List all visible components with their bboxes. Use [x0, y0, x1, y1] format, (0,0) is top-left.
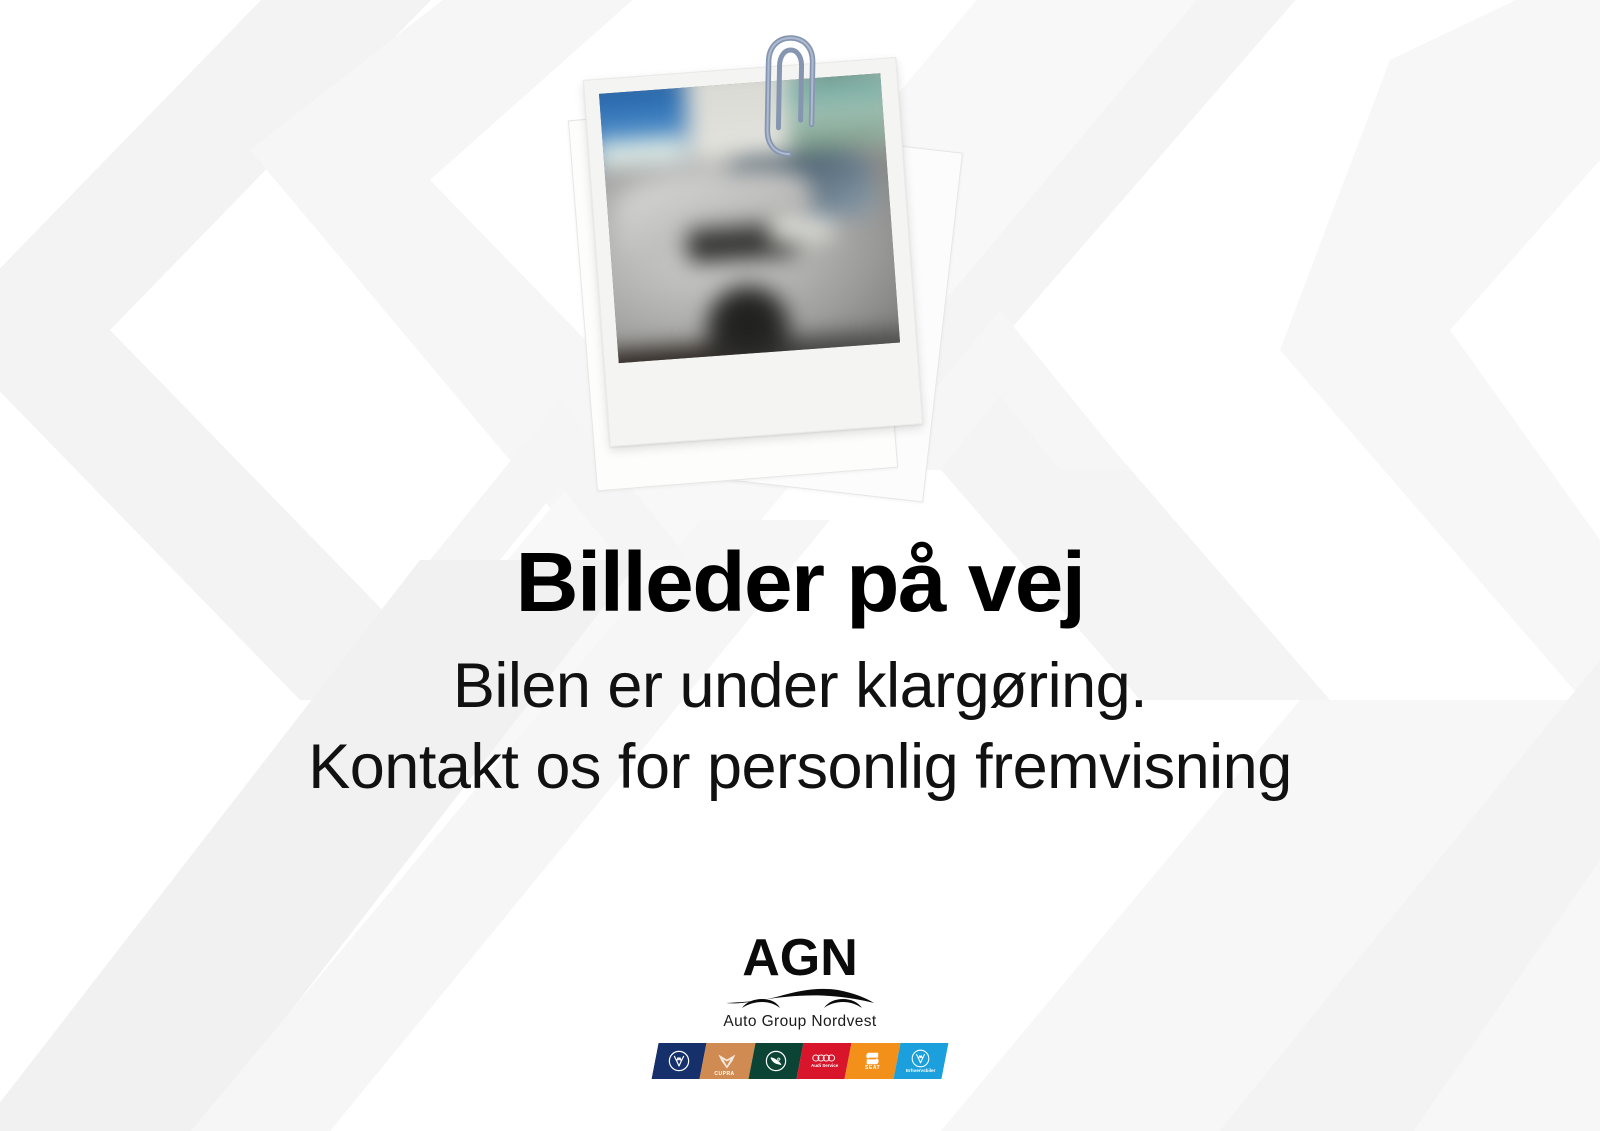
vw-logo-icon	[668, 1050, 690, 1072]
polaroid-caption-area	[620, 352, 906, 434]
brand-label-erhvervsbiler: Erhvervsbiler	[906, 1068, 935, 1073]
brand-label-audi: Audi Service	[811, 1063, 838, 1068]
agn-logo: AGN Auto Group Nordvest	[655, 932, 945, 1079]
car-photo-blurred	[599, 73, 900, 363]
brand-segment-cupra[interactable]: CUPRA	[700, 1043, 755, 1079]
brand-segment-skoda[interactable]	[748, 1043, 803, 1079]
footer: AGN Auto Group Nordvest	[0, 932, 1600, 1079]
subtitle-line-1: Bilen er under klargøring.	[0, 646, 1600, 727]
brand-segment-volkswagen[interactable]	[652, 1043, 707, 1079]
cupra-logo-icon	[717, 1053, 737, 1070]
placeholder-card: Billeder på vej Bilen er under klargørin…	[0, 0, 1600, 1131]
brand-label-seat: SEAT	[865, 1066, 880, 1072]
brand-segment-audi[interactable]: Audi Service	[796, 1043, 851, 1079]
brand-label-cupra: CUPRA	[701, 1072, 749, 1077]
subtitle-line-2: Kontakt os for personlig fremvisning	[0, 727, 1600, 808]
agn-tagline: Auto Group Nordvest	[655, 1013, 945, 1031]
brand-segment-seat[interactable]: SEAT	[845, 1043, 900, 1079]
brand-segment-vw-erhvervsbiler[interactable]: Erhvervsbiler	[893, 1043, 948, 1079]
polaroid-photo-window	[599, 73, 900, 363]
polaroid-frame	[583, 57, 923, 447]
message-block: Billeder på vej Bilen er under klargørin…	[0, 540, 1600, 807]
seat-logo-icon	[865, 1051, 880, 1066]
vw-logo-icon	[911, 1049, 930, 1068]
headline: Billeder på vej	[0, 540, 1600, 624]
paperclip-icon	[761, 32, 819, 163]
audi-rings-icon	[811, 1054, 837, 1062]
skoda-logo-icon	[765, 1050, 787, 1072]
photo-stack	[560, 48, 1020, 528]
agn-wordmark: AGN	[655, 932, 945, 984]
brand-bar: CUPRA	[652, 1043, 949, 1079]
